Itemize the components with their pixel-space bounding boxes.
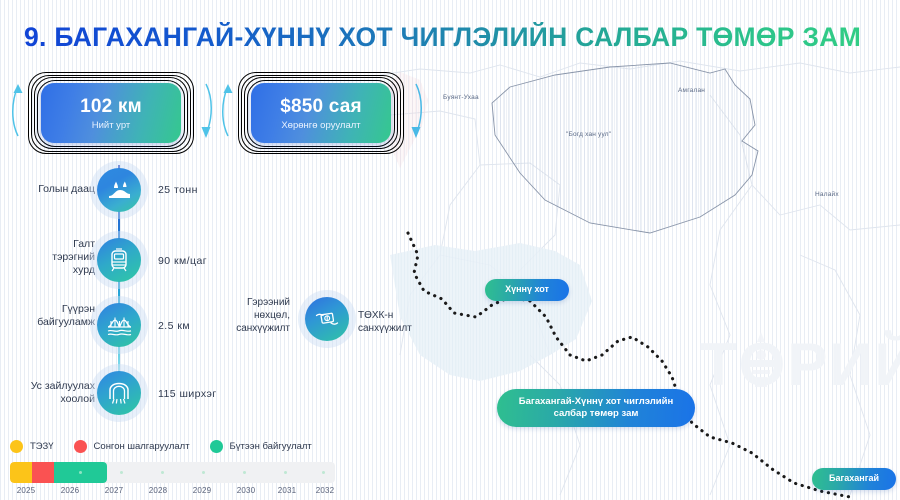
timeline-segment-selection [32,462,54,483]
timeline-track [10,462,335,483]
timeline: 2025 2026 2027 2028 2029 2030 2031 2032 [10,462,335,500]
arrow-down-icon-2 [406,80,426,142]
stat-value-2: $850 сая [280,96,362,118]
map-label-amgalan: Амгалан [678,87,705,94]
arrow-up-icon-1 [8,78,28,140]
spec-label-3: Гүүрэнбайгууламж [10,303,95,329]
watermark-text: ТӨРИЙН [700,330,900,399]
legend-dot-yellow [10,440,23,453]
stat-label-2: Хөрөнгө оруулалт [281,120,360,131]
year-label: 2031 [278,486,297,495]
river-icon [97,168,141,212]
spec-value-4: 115 ширхэг [158,388,217,400]
infographic-page: 9. БАГАХАНГАЙ-ХҮННҮ ХОТ ЧИГЛЭЛИЙН САЛБАР… [0,0,900,500]
year-label: 2030 [237,486,256,495]
stat-card-body-2: $850 сая Хөрөнгө оруулалт [251,83,391,143]
year-label: 2029 [193,486,212,495]
culvert-icon [97,371,141,415]
money-hands-icon [305,297,349,341]
year-label: 2032 [316,486,335,495]
legend-item-construction: Бүтээн байгуулалт [210,440,312,453]
map-label-buyant-ukhaa: Буянт-Ухаа [443,94,479,101]
year-label: 2025 [17,486,36,495]
timeline-years: 2025 2026 2027 2028 2029 2030 2031 2032 [10,486,335,500]
hunnu-region-hatch [390,243,592,381]
legend-dot-red [74,440,87,453]
legend-label-3: Бүтээн байгуулалт [230,441,312,452]
spec-value-1: 25 тонн [158,184,198,196]
contract-label: Гэрээнийнөхцөл,санхүүжилт [210,296,290,335]
map-pill-bagahangai[interactable]: Багахангай [812,468,896,490]
year-label: 2027 [105,486,124,495]
spec-value-2: 90 км/цаг [158,255,207,267]
map-area: Буянт-Ухаа Амгалан Налайх "Богд хан уул" [380,55,900,500]
stat-label-1: Нийт урт [92,120,131,131]
stat-value-1: 102 км [80,96,142,118]
bridge-icon [97,303,141,347]
legend: ТЭЗҮ Сонгон шалгаруулалт Бүтээн байгуула… [10,440,332,453]
map-label-bogd-khan-uul: "Богд хан уул" [566,131,611,138]
contract-value: ТӨХК-нсанхүүжилт [358,309,412,335]
spec-value-3: 2.5 км [158,320,190,332]
stat-card-body-1: 102 км Нийт урт [41,83,181,143]
page-title: 9. БАГАХАНГАЙ-ХҮННҮ ХОТ ЧИГЛЭЛИЙН САЛБАР… [24,22,884,53]
map-label-nalaikh: Налайх [815,191,839,198]
bogd-khan-uul-polygon [492,63,758,233]
map-pill-route[interactable]: Багахангай-Хүннү хот чиглэлийн салбар тө… [497,389,695,427]
legend-item-selection: Сонгон шалгаруулалт [74,440,190,453]
arrow-down-icon-1 [196,80,216,142]
legend-dot-green [210,440,223,453]
legend-label-1: ТЭЗҮ [30,441,54,452]
train-icon [97,238,141,282]
track-dot [202,471,205,474]
track-dot [284,471,287,474]
legend-label-2: Сонгон шалгаруулалт [94,441,190,452]
track-dot [120,471,123,474]
spec-label-2: Галттэрэгнийхурд [10,238,95,277]
track-dot [322,471,325,474]
arrow-up-icon-2 [218,78,238,140]
track-dot [243,471,246,474]
map-pill-hunnu-khot[interactable]: Хүннү хот [485,279,569,301]
legend-item-tezu: ТЭЗҮ [10,440,54,453]
track-dot [161,471,164,474]
track-dot [79,471,82,474]
year-label: 2026 [61,486,80,495]
spec-label-4: Ус зайлуулаххоолой [5,380,95,406]
year-label: 2028 [149,486,168,495]
map-svg [380,55,900,500]
spec-label-1: Голын даац [10,183,95,196]
timeline-segment-tezu [10,462,32,483]
